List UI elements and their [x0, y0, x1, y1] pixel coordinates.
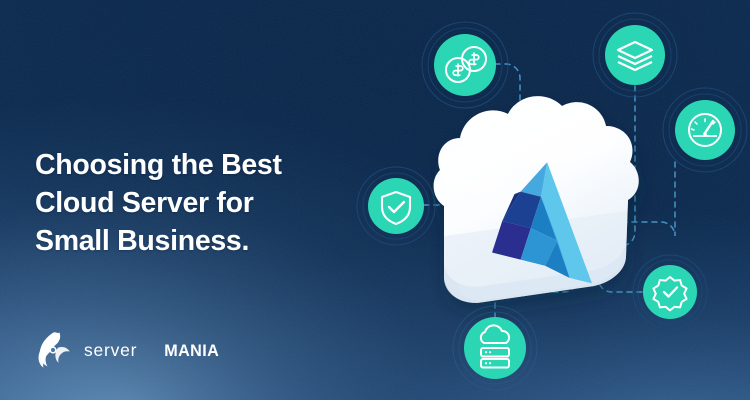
layers-icon-disc [605, 25, 665, 85]
headline-line-3: Small Business. [35, 222, 335, 260]
page-title: Choosing the Best Cloud Server for Small… [35, 146, 335, 260]
shield-check-icon-disc [368, 178, 424, 234]
icon-node-certified-badge[interactable] [631, 253, 709, 331]
banner-root: Choosing the Best Cloud Server for Small… [0, 0, 750, 400]
icon-node-speedometer[interactable] [661, 86, 749, 174]
icon-node-cloud-server[interactable] [450, 303, 540, 393]
brand-logo[interactable]: server MANIA [33, 330, 252, 370]
wordmark-light: server [84, 340, 137, 360]
coins-icon-disc [434, 34, 496, 96]
icon-node-coins[interactable] [420, 20, 510, 110]
icon-node-shield[interactable] [355, 165, 437, 247]
cloud-graphic-stage [330, 0, 750, 400]
comet-swoosh-icon [33, 330, 73, 370]
headline-line-2: Cloud Server for [35, 184, 335, 222]
brand-wordmark: server MANIA [84, 339, 252, 361]
wordmark-bold: MANIA [164, 342, 219, 360]
headline-line-1: Choosing the Best [35, 146, 335, 184]
speedometer-icon-disc [675, 100, 735, 160]
